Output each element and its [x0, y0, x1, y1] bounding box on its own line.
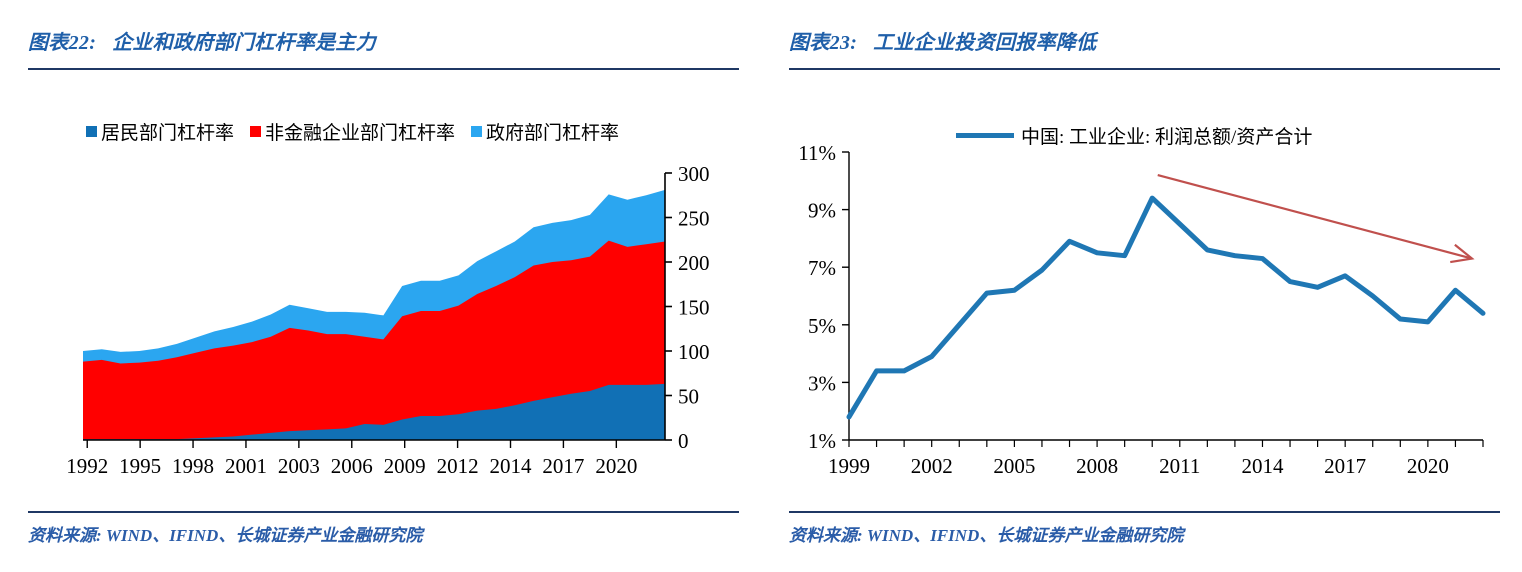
x-tick-label: 1998	[172, 454, 214, 478]
figure-22-panel: 图表22: 企业和政府部门杠杆率是主力 居民部门杠杆率 非金融企业部门杠杆率 政…	[0, 0, 761, 572]
figure-23-bottom-rule	[789, 511, 1500, 513]
y-tick-label: 9%	[808, 199, 836, 223]
y-tick-label: 0	[678, 429, 689, 453]
x-tick-label: 1999	[828, 454, 870, 478]
y-tick-label: 250	[678, 207, 710, 231]
x-tick-label: 2012	[437, 454, 479, 478]
y-tick-label: 5%	[808, 314, 836, 338]
line-series-industrial-roi	[849, 198, 1483, 417]
industrial-roi-line-chart: 1%3%5%7%9%11%199920022005200820112014201…	[761, 0, 1522, 520]
y-tick-label: 200	[678, 251, 710, 275]
x-tick-label: 2001	[225, 454, 267, 478]
x-tick-label: 2017	[542, 454, 584, 478]
y-tick-label: 100	[678, 340, 710, 364]
x-tick-label: 2003	[278, 454, 320, 478]
figure-23-source: 资料来源: WIND、IFIND、长城证券产业金融研究院	[789, 521, 1183, 546]
y-tick-label: 3%	[808, 371, 836, 395]
y-tick-label: 7%	[808, 256, 836, 280]
y-tick-label: 150	[678, 296, 710, 320]
x-tick-label: 2014	[1241, 454, 1284, 478]
x-tick-label: 1995	[119, 454, 161, 478]
x-tick-label: 2011	[1159, 454, 1200, 478]
figure-22-bottom-rule	[28, 511, 739, 513]
x-tick-label: 2005	[993, 454, 1035, 478]
figure-23-panel: 图表23: 工业企业投资回报率降低 中国: 工业企业: 利润总额/资产合计 1%…	[761, 0, 1522, 572]
x-tick-label: 1992	[66, 454, 108, 478]
y-tick-label: 300	[678, 162, 710, 186]
leverage-ratio-stacked-area-chart: 0501001502002503001992199519982001200320…	[0, 0, 761, 520]
y-tick-label: 1%	[808, 429, 836, 453]
x-tick-label: 2008	[1076, 454, 1118, 478]
y-tick-label: 50	[678, 385, 699, 409]
y-tick-label: 11%	[798, 141, 836, 165]
x-tick-label: 2009	[384, 454, 426, 478]
x-tick-label: 2002	[911, 454, 953, 478]
figure-22-source: 资料来源: WIND、IFIND、长城证券产业金融研究院	[28, 521, 422, 546]
x-tick-label: 2017	[1324, 454, 1366, 478]
report-figures-page: 图表22: 企业和政府部门杠杆率是主力 居民部门杠杆率 非金融企业部门杠杆率 政…	[0, 0, 1522, 572]
x-tick-label: 2020	[1407, 454, 1449, 478]
x-tick-label: 2014	[490, 454, 533, 478]
x-tick-label: 2020	[595, 454, 637, 478]
x-tick-label: 2006	[331, 454, 373, 478]
